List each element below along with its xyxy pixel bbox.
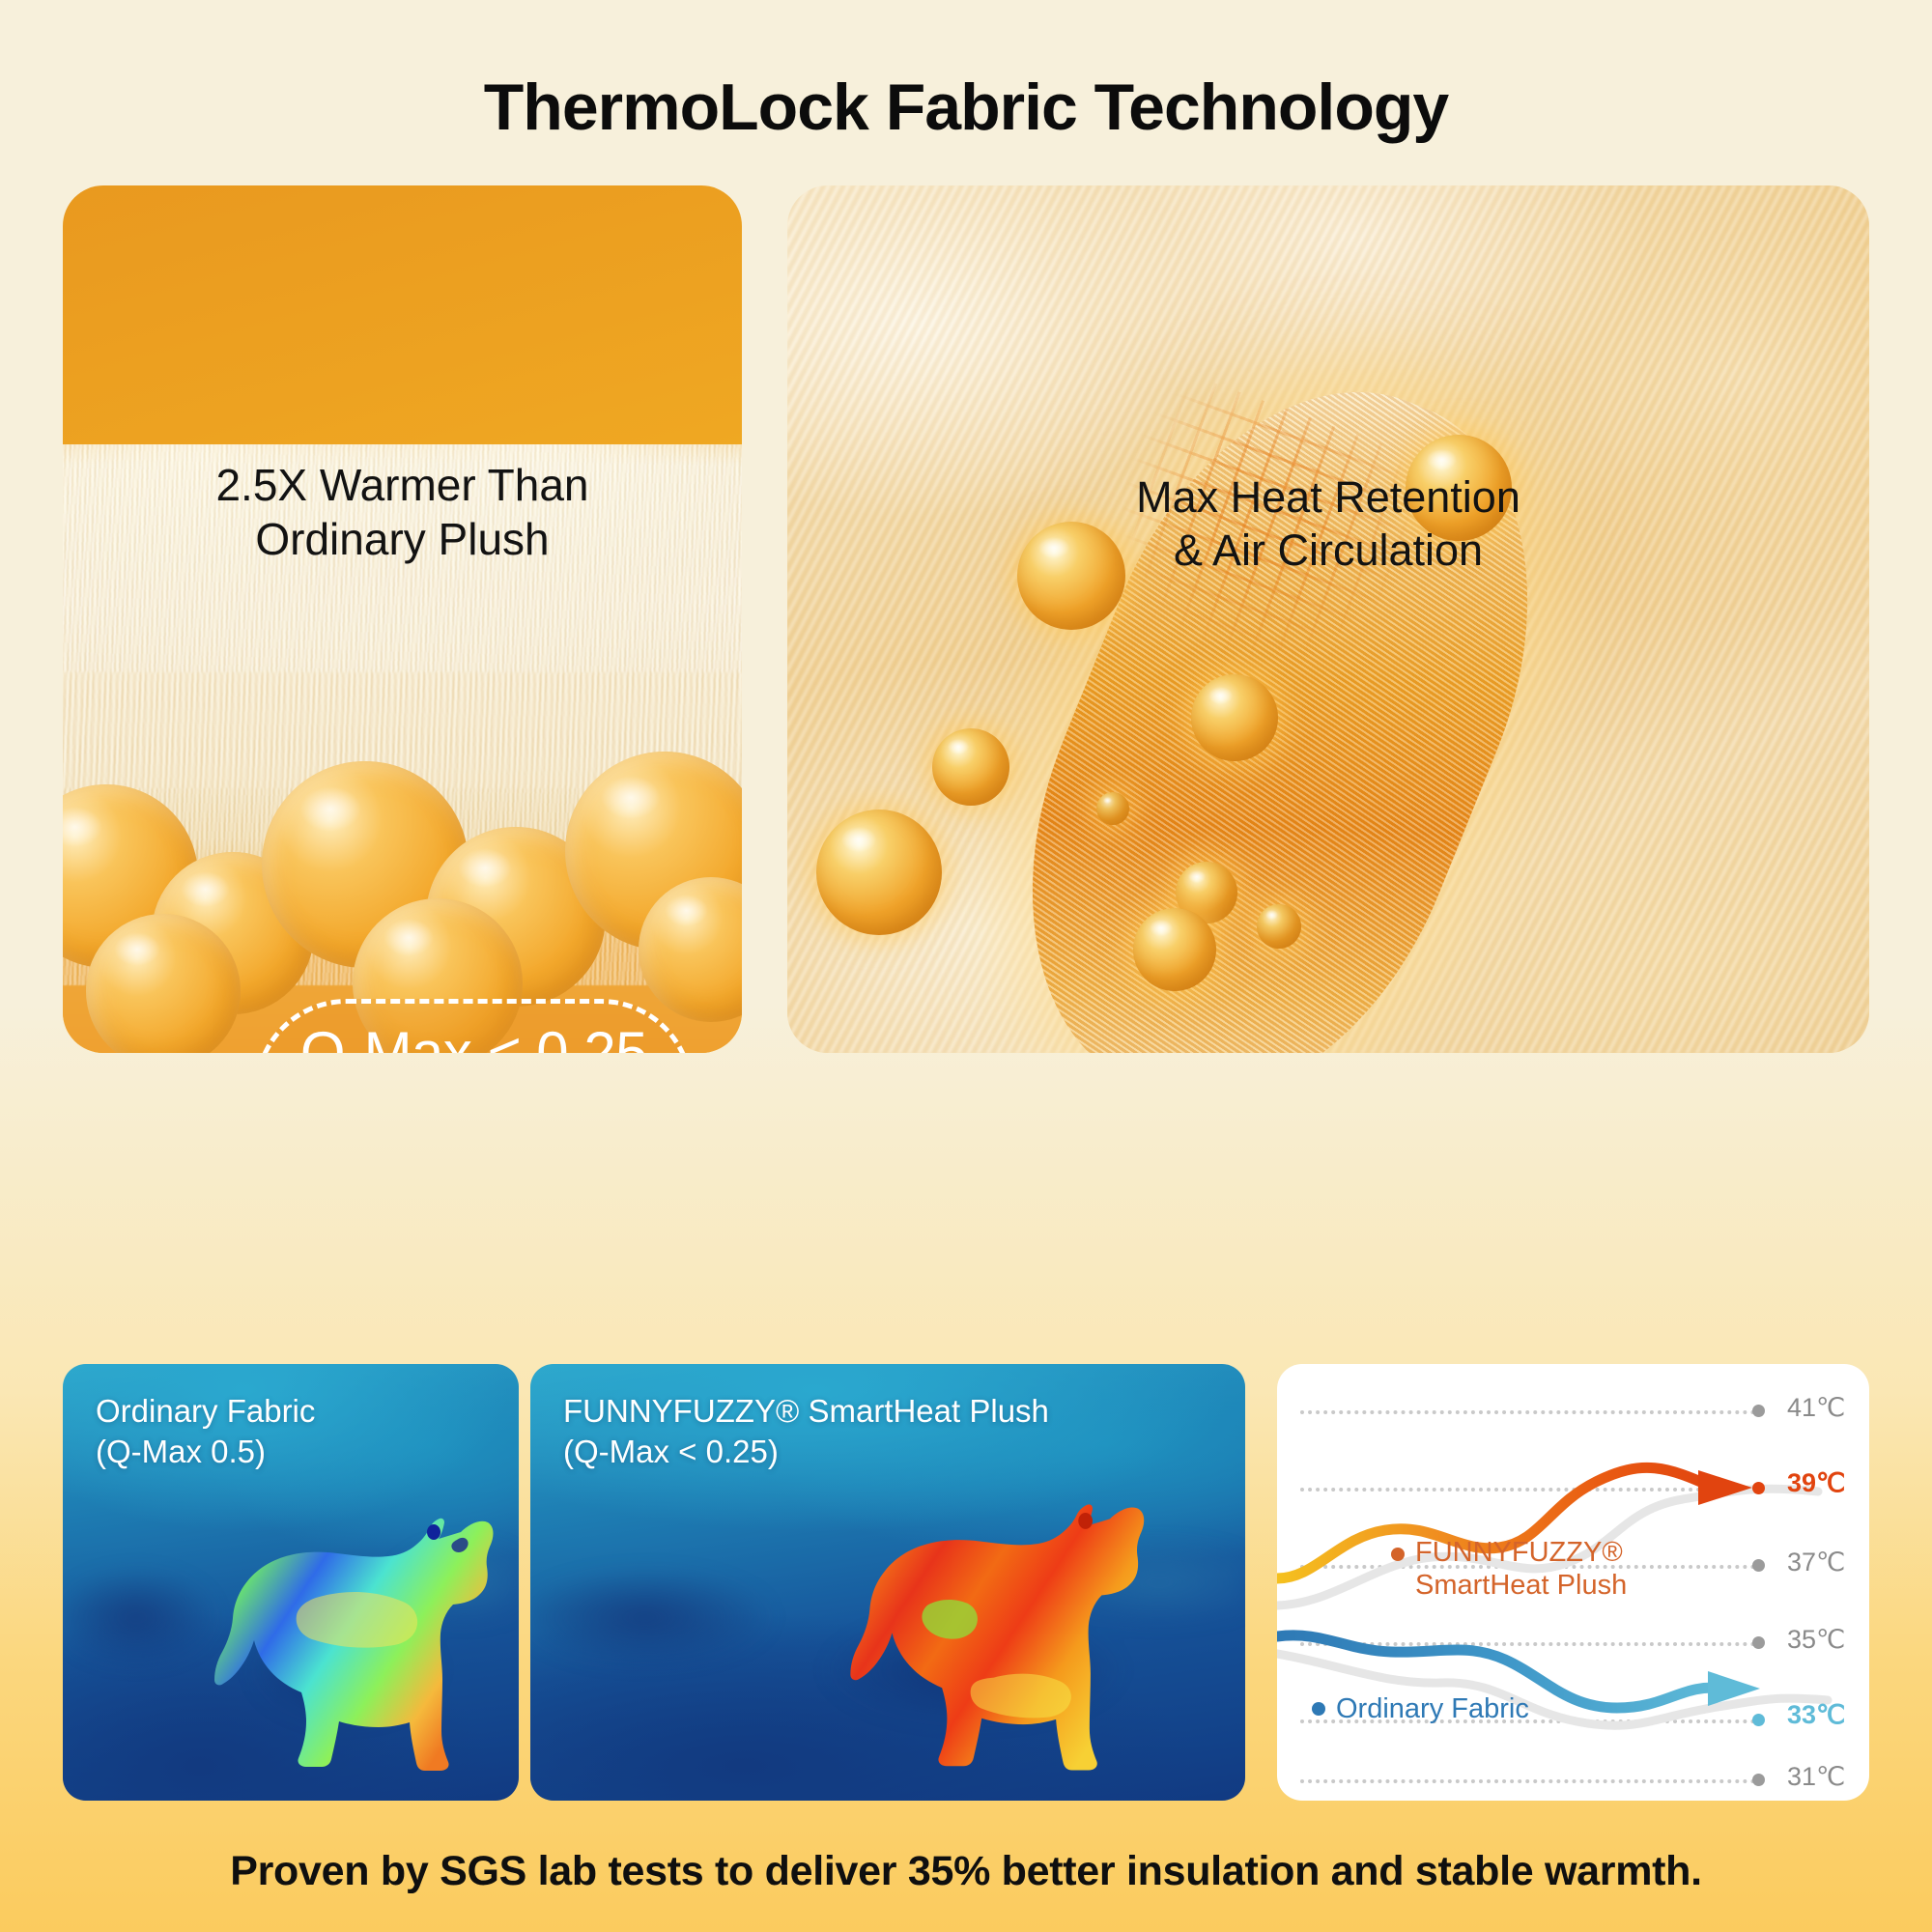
chart-tick-label-35: 35℃ bbox=[1787, 1625, 1845, 1655]
heat-bubble bbox=[1191, 674, 1278, 761]
heat-bubble bbox=[1257, 904, 1301, 949]
chart-tick-dot bbox=[1752, 1774, 1765, 1786]
qmax-badge: Q-Max < 0.25 Higher warmth retention = l… bbox=[254, 999, 694, 1053]
chart-legend-ordinary: Ordinary Fabric bbox=[1312, 1692, 1529, 1725]
chart-legend-smartheat: FUNNYFUZZY® SmartHeat Plush bbox=[1391, 1536, 1627, 1602]
thermal-label-ordinary: Ordinary Fabric (Q-Max 0.5) bbox=[96, 1391, 315, 1472]
chart-tick-dot bbox=[1752, 1714, 1765, 1726]
heat-bubble bbox=[1096, 792, 1129, 825]
heat-bubble bbox=[932, 728, 1009, 806]
thermal-panel-smartheat: FUNNYFUZZY® SmartHeat Plush (Q-Max < 0.2… bbox=[530, 1364, 1245, 1801]
heat-bubble bbox=[816, 810, 942, 935]
page-title: ThermoLock Fabric Technology bbox=[0, 70, 1932, 145]
chart-tick-dot bbox=[1752, 1482, 1765, 1494]
thermal-label-smartheat: FUNNYFUZZY® SmartHeat Plush (Q-Max < 0.2… bbox=[563, 1391, 1049, 1472]
thermal-dog-cool-icon bbox=[171, 1490, 499, 1779]
qmax-value: Q-Max < 0.25 bbox=[300, 1024, 647, 1053]
panel-warmth-heading: 2.5X Warmer Than Ordinary Plush bbox=[63, 458, 742, 566]
chart-tick-label-41: 41℃ bbox=[1787, 1393, 1845, 1423]
thermal-dog-warm-icon bbox=[770, 1474, 1185, 1779]
legend-label-ordinary: Ordinary Fabric bbox=[1336, 1692, 1529, 1725]
chart-tick-label-39: 39℃ bbox=[1787, 1468, 1845, 1498]
footer-caption: Proven by SGS lab tests to deliver 35% b… bbox=[0, 1848, 1932, 1895]
temperature-chart-card: 41℃ 39℃ 37℃ 35℃ 33℃ 31℃ FUNNYFUZZY® Smar… bbox=[1277, 1364, 1869, 1801]
legend-dot-ordinary bbox=[1312, 1702, 1325, 1716]
chart-tick-dot bbox=[1752, 1559, 1765, 1572]
heat-bubble bbox=[1133, 908, 1216, 991]
chart-tick-label-33: 33℃ bbox=[1787, 1700, 1845, 1730]
chart-tick-label-37: 37℃ bbox=[1787, 1548, 1845, 1577]
panel-retention-heading: Max Heat Retention & Air Circulation bbox=[787, 471, 1869, 578]
legend-label-smartheat: FUNNYFUZZY® SmartHeat Plush bbox=[1415, 1536, 1627, 1602]
legend-dot-smartheat bbox=[1391, 1548, 1405, 1561]
chart-arrow-smartheat bbox=[1698, 1470, 1752, 1505]
chart-tick-label-31: 31℃ bbox=[1787, 1762, 1845, 1792]
chart-tick-dot bbox=[1752, 1636, 1765, 1649]
panel-heat-retention: Max Heat Retention & Air Circulation bbox=[787, 185, 1869, 1053]
thermal-panel-ordinary: Ordinary Fabric (Q-Max 0.5) bbox=[63, 1364, 519, 1801]
chart-tick-dot bbox=[1752, 1405, 1765, 1417]
panel-warmth: 2.5X Warmer Than Ordinary Plush Q-Max < … bbox=[63, 185, 742, 1053]
